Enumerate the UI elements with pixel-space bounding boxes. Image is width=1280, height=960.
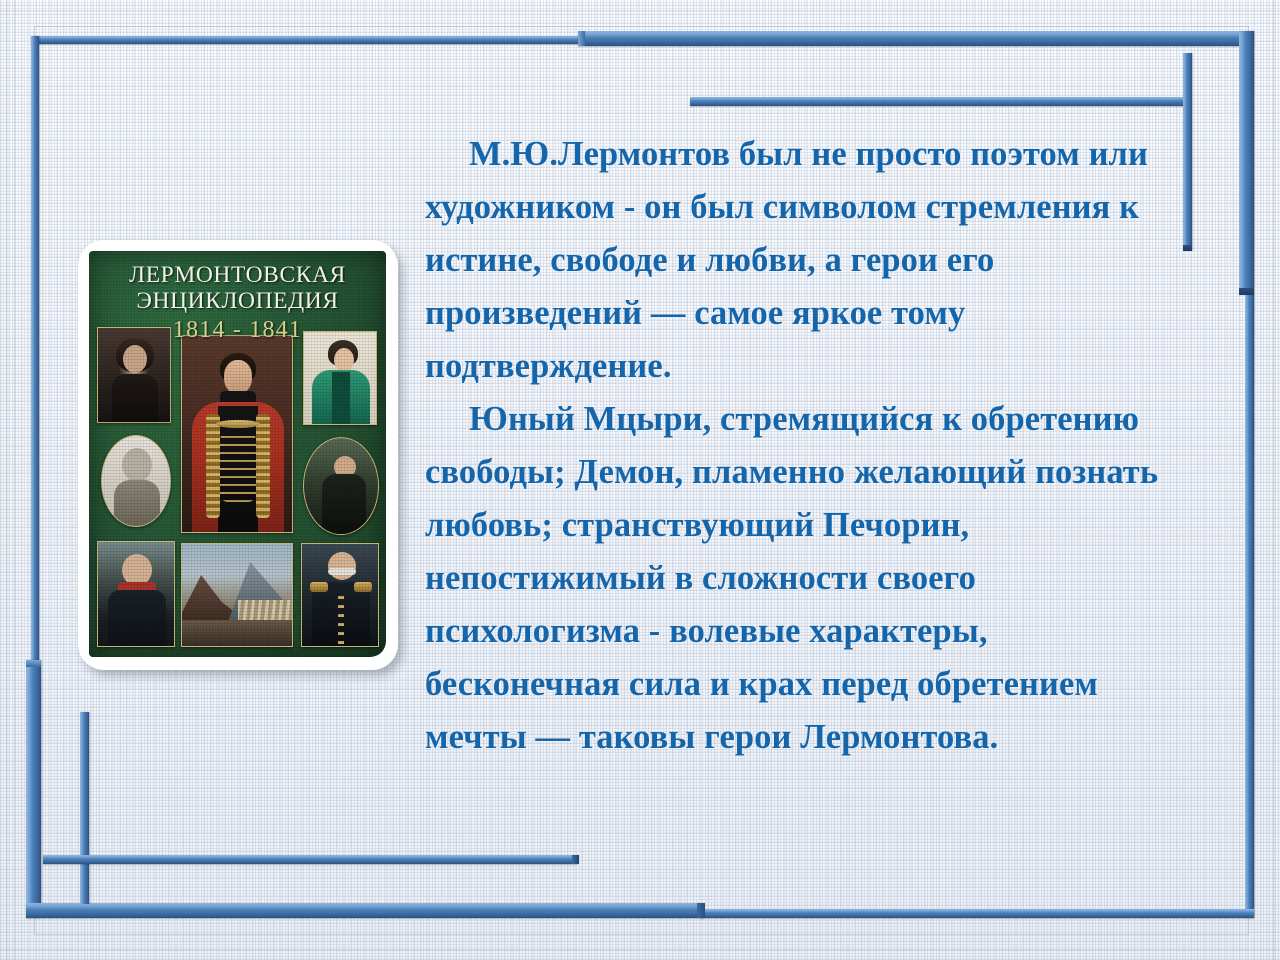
- frame-inner-top-line: [690, 97, 1186, 106]
- book-title-line-2: ЭНЦИКЛОПЕДИЯ: [89, 288, 386, 314]
- frame-right-thick-segment: [1239, 31, 1254, 295]
- paragraph-2: Юный Мцыри, стремящийся к обретению своб…: [425, 393, 1185, 764]
- frame-top-step-cap: [578, 31, 585, 46]
- frame-left-thin-segment: [31, 36, 39, 660]
- edge-hairline-left: [6, 0, 7, 960]
- edge-hairline-top: [0, 10, 1280, 11]
- frame-right-step-cap: [1239, 288, 1254, 295]
- edge-hairline-left-2: [14, 0, 15, 960]
- frame-left-thick-segment: [26, 660, 41, 918]
- book-cover-artwork: ЛЕРМОНТОВСКАЯ ЭНЦИКЛОПЕДИЯ 1814 - 1841: [89, 251, 386, 657]
- portrait-lermontov-main: [181, 335, 293, 533]
- book-cover-image: Обложка книги «Лермонтовская энциклопеди…: [78, 240, 398, 670]
- frame-inner-bottom-riser: [80, 712, 89, 904]
- slide-canvas: Обложка книги «Лермонтовская энциклопеди…: [0, 0, 1280, 960]
- frame-left-step-cap: [26, 660, 41, 667]
- edge-hairline-right: [1273, 0, 1274, 960]
- portrait-officer-left: [97, 541, 175, 647]
- portrait-lady: [303, 331, 377, 425]
- inner-hairline-bottom: [34, 934, 1249, 935]
- frame-bottom-thick-segment: [26, 903, 704, 918]
- portrait-general-right: [301, 543, 379, 647]
- portrait-seated-man: [303, 437, 379, 535]
- portrait-engraving: [101, 435, 171, 527]
- frame-right-thin-segment: [1245, 295, 1254, 918]
- book-dates: 1814 - 1841: [89, 317, 386, 344]
- edge-hairline-bottom: [0, 949, 1280, 950]
- book-title-line-1: ЛЕРМОНТОВСКАЯ: [89, 262, 386, 288]
- frame-bottom-step-cap: [697, 903, 705, 918]
- paragraph-1: М.Ю.Лермонтов был не просто поэтом или х…: [425, 128, 1185, 393]
- slide-body-text: М.Ю.Лермонтов был не просто поэтом или х…: [425, 128, 1185, 764]
- frame-bottom-thin-segment: [700, 909, 1254, 918]
- inner-hairline-top: [34, 26, 1249, 27]
- frame-top-thick-segment: [578, 31, 1254, 46]
- frame-inner-bottom-line-cap: [572, 855, 579, 864]
- frame-inner-bottom-line: [43, 855, 578, 864]
- book-title: ЛЕРМОНТОВСКАЯ ЭНЦИКЛОПЕДИЯ: [89, 262, 386, 314]
- frame-top-thin-segment: [31, 36, 584, 44]
- landscape-caucasus-mountains: [181, 543, 293, 647]
